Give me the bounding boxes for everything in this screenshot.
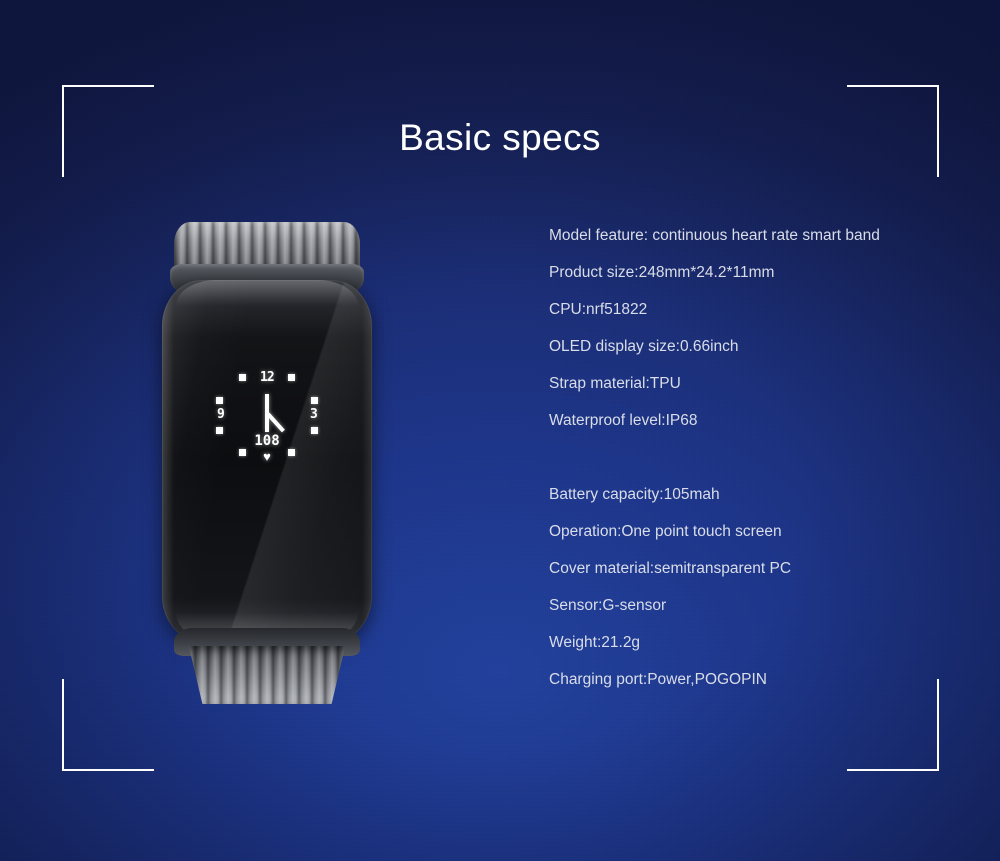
spec-item: Strap material:TPU xyxy=(549,376,969,413)
page-title: Basic specs xyxy=(0,117,1000,159)
clock-tick-icon xyxy=(288,449,295,456)
body-edge-right xyxy=(362,290,372,632)
spec-item: OLED display size:0.66inch xyxy=(549,339,969,376)
spec-item: Model feature: continuous heart rate sma… xyxy=(549,228,969,265)
spec-item: Battery capacity:105mah xyxy=(549,487,969,524)
spec-item: Operation:One point touch screen xyxy=(549,524,969,561)
clock-numeral-9: 9 xyxy=(217,408,224,421)
clock-hour-hand xyxy=(267,413,285,433)
clock-tick-icon xyxy=(311,427,318,434)
body-top-sheen xyxy=(176,280,358,306)
clock-tick-icon xyxy=(216,427,223,434)
spec-item: Cover material:semitransparent PC xyxy=(549,561,969,598)
band-body: 12 9 3 108 ♥ xyxy=(162,280,372,642)
strap-lower xyxy=(182,646,352,704)
bracket-line-horizontal xyxy=(847,769,939,771)
clock-tick-icon xyxy=(239,449,246,456)
clock-tick-icon xyxy=(216,397,223,404)
bracket-line-horizontal xyxy=(62,85,154,87)
oled-watch-face: 12 9 3 108 ♥ xyxy=(200,364,334,466)
clock-tick-icon xyxy=(311,397,318,404)
body-edge-left xyxy=(162,290,174,632)
clock-numeral-3: 3 xyxy=(310,408,317,421)
product-image-smart-band: 12 9 3 108 ♥ xyxy=(152,222,380,710)
clock-tick-icon xyxy=(239,374,246,381)
bracket-line-vertical xyxy=(62,679,64,771)
spec-item: Product size:248mm*24.2*11mm xyxy=(549,265,969,302)
clock-tick-icon xyxy=(288,374,295,381)
heart-icon: ♥ xyxy=(263,450,271,463)
corner-bracket-bottom-left xyxy=(62,679,154,771)
clock-numeral-12: 12 xyxy=(260,371,274,384)
spec-list: Model feature: continuous heart rate sma… xyxy=(549,228,969,709)
bracket-line-horizontal xyxy=(847,85,939,87)
bracket-line-horizontal xyxy=(62,769,154,771)
spec-item: Sensor:G-sensor xyxy=(549,598,969,635)
spec-item: Charging port:Power,POGOPIN xyxy=(549,672,969,709)
spec-item: CPU:nrf51822 xyxy=(549,302,969,339)
heart-rate-value: 108 xyxy=(254,434,279,448)
spec-item: Waterproof level:IP68 xyxy=(549,413,969,450)
spec-item: Weight:21.2g xyxy=(549,635,969,672)
